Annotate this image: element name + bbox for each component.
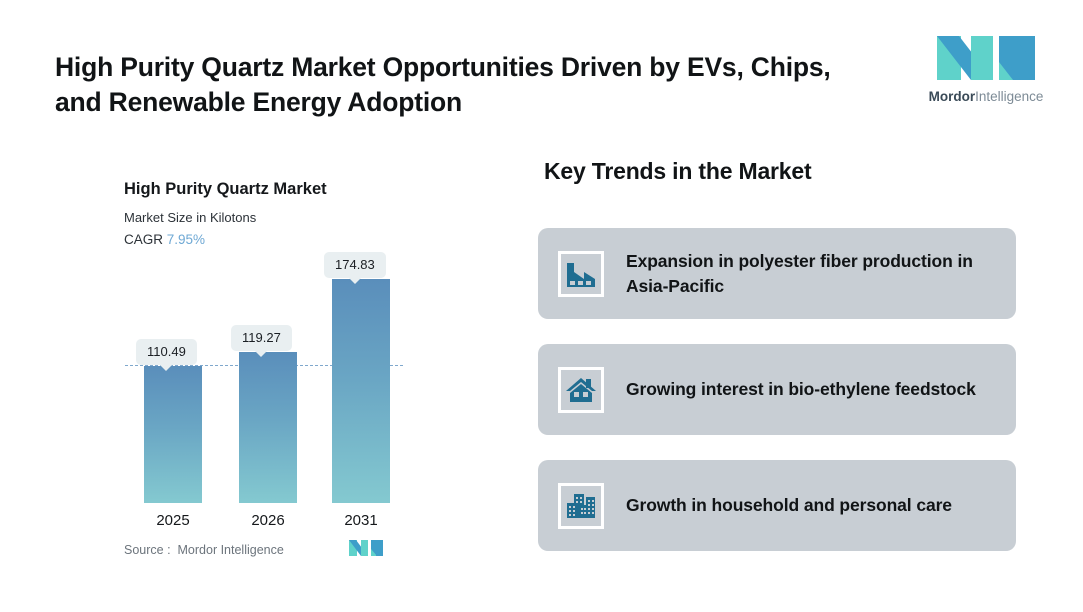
chart-source: Source : Mordor Intelligence	[124, 543, 284, 557]
brand-wordmark: MordorIntelligence	[927, 90, 1045, 104]
chart-panel: High Purity Quartz Market Market Size in…	[0, 150, 500, 590]
buildings-icon	[558, 483, 604, 529]
trend-card-3-text: Growth in household and personal care	[626, 493, 952, 517]
trend-card-2-text: Growing interest in bio-ethylene feedsto…	[626, 377, 976, 401]
source-label: Source :	[124, 543, 171, 557]
bar-2031	[332, 279, 390, 503]
house-icon	[558, 367, 604, 413]
bar-chart-plot: 110.49 119.27 174.83 2025 2026 2031	[0, 150, 500, 590]
trends-heading: Key Trends in the Market	[544, 158, 811, 185]
source-mordor-m-logo-icon	[348, 538, 384, 558]
bar-2025	[144, 366, 202, 503]
brand-name-light: Intelligence	[975, 89, 1043, 104]
trend-card-3[interactable]: Growth in household and personal care	[538, 460, 1016, 551]
bar-value-label-2031: 174.83	[324, 252, 386, 278]
trend-card-1-text: Expansion in polyester fiber production …	[626, 249, 1016, 297]
mordor-m-logo-icon	[933, 30, 1039, 86]
source-name: Mordor Intelligence	[178, 543, 284, 557]
x-axis-label-2026: 2026	[239, 512, 297, 529]
brand-name-bold: Mordor	[929, 89, 976, 104]
brand-logo: MordorIntelligence	[927, 30, 1045, 104]
page-title: High Purity Quartz Market Opportunities …	[55, 50, 855, 120]
bar-value-label-2026: 119.27	[231, 325, 292, 351]
x-axis-label-2025: 2025	[144, 512, 202, 529]
x-axis-label-2031: 2031	[332, 512, 390, 529]
trend-card-1[interactable]: Expansion in polyester fiber production …	[538, 228, 1016, 319]
factory-icon	[558, 251, 604, 297]
trend-card-2[interactable]: Growing interest in bio-ethylene feedsto…	[538, 344, 1016, 435]
bar-2026	[239, 352, 297, 503]
slide-root: High Purity Quartz Market Opportunities …	[0, 0, 1083, 612]
bar-value-label-2025: 110.49	[136, 339, 197, 365]
